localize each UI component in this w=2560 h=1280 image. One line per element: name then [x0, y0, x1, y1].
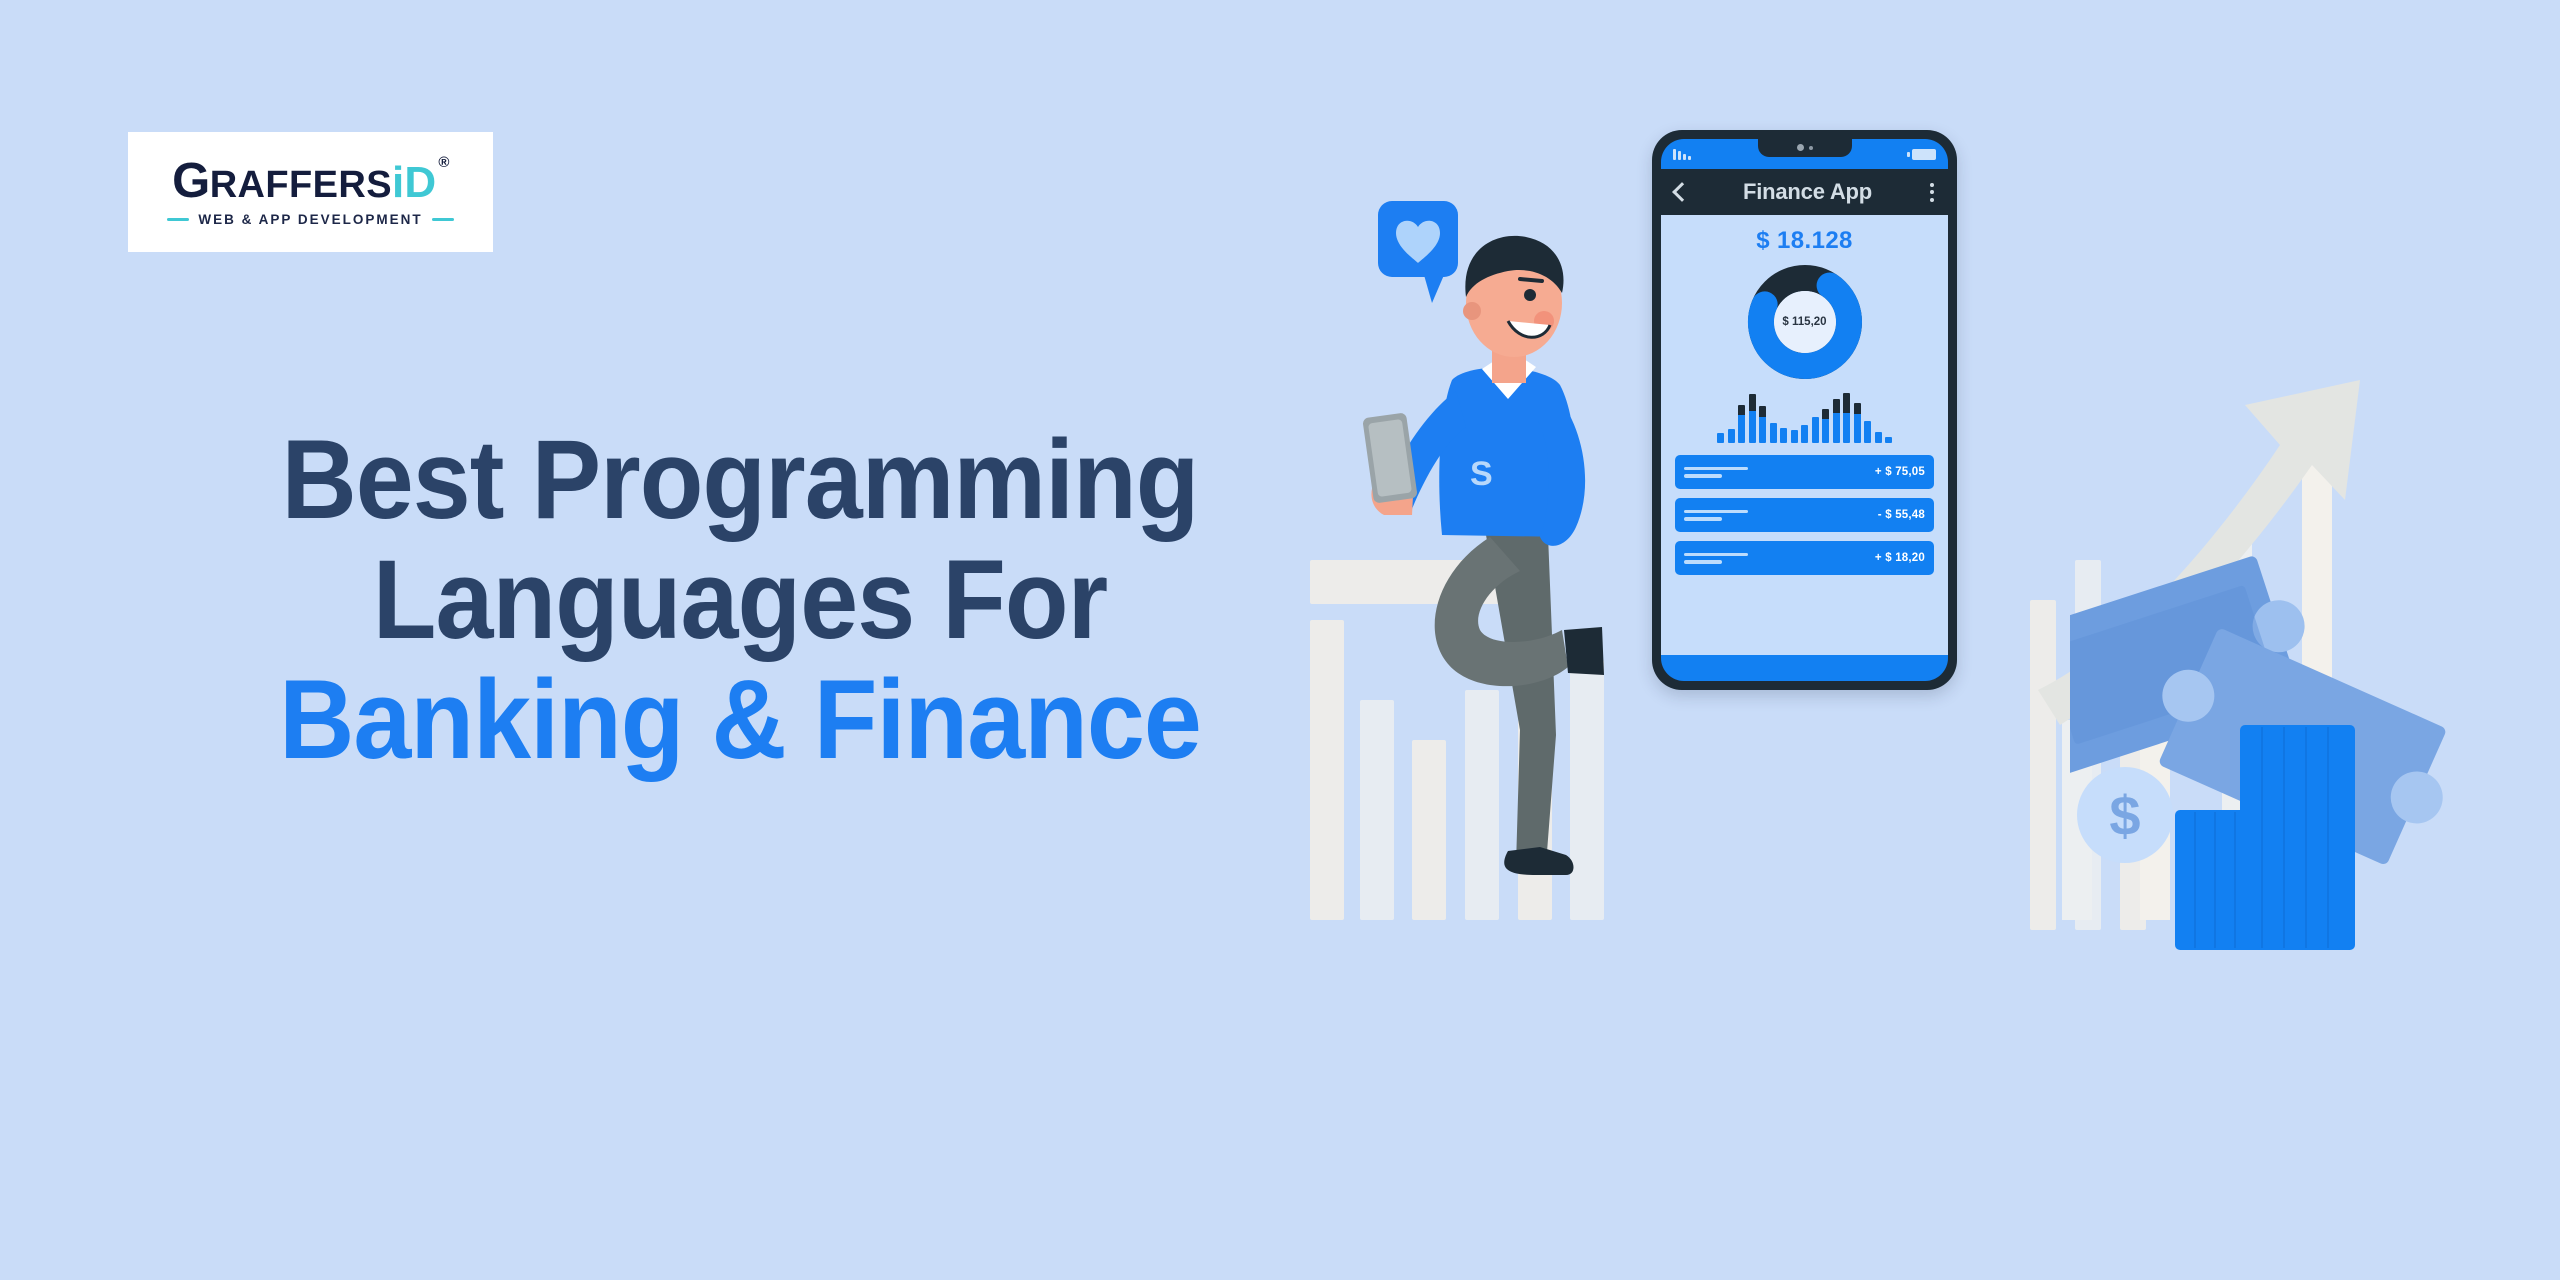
chart-bar-base: [1854, 414, 1861, 443]
chart-bar: [1770, 423, 1777, 443]
transaction-placeholder-lines: [1684, 553, 1748, 564]
chart-bar-base: [1749, 411, 1756, 443]
chart-bar-cap: [1759, 406, 1766, 417]
chart-bar: [1812, 417, 1819, 443]
app-title: Finance App: [1685, 179, 1930, 205]
transaction-row[interactable]: + $ 18,20: [1675, 541, 1934, 575]
chart-bar-base: [1780, 428, 1787, 443]
app-content: $ 18.128 $ 115,20 + $ 75,05- $ 55: [1661, 215, 1948, 655]
headline-line-1: Best Programming: [145, 420, 1335, 540]
chart-bar-base: [1738, 415, 1745, 443]
chart-bar-base: [1728, 429, 1735, 443]
svg-text:$: $: [2109, 784, 2140, 847]
donut-center-label: $ 115,20: [1782, 316, 1826, 328]
heart-speech-bubble: [1378, 201, 1458, 303]
chart-bar-base: [1812, 417, 1819, 443]
chart-bar-base: [1717, 433, 1724, 443]
page-title: Best Programming Languages For Banking &…: [100, 420, 1380, 780]
headline-line-3: Banking & Finance: [145, 660, 1335, 780]
chart-bar: [1833, 399, 1840, 443]
chart-bar-base: [1833, 413, 1840, 443]
chart-bar: [1885, 437, 1892, 443]
activity-bar-chart: [1675, 393, 1934, 443]
chart-bar: [1864, 421, 1871, 443]
money-group: $: [2070, 480, 2520, 960]
chart-bar-base: [1791, 430, 1798, 443]
phone-mockup[interactable]: Finance App $ 18.128: [1652, 130, 1957, 690]
phone-screen: Finance App $ 18.128: [1661, 139, 1948, 681]
chart-bar-cap: [1749, 394, 1756, 411]
chart-bar: [1749, 394, 1756, 443]
graffersid-logo[interactable]: G RAFFERS iD ® WEB & APP DEVELOPMENT: [128, 132, 493, 252]
camera-notch: [1758, 139, 1852, 157]
chart-bar: [1738, 405, 1745, 443]
transaction-row[interactable]: - $ 55,48: [1675, 498, 1934, 532]
finance-illustration: $: [1330, 0, 2560, 1280]
chart-bar: [1875, 432, 1882, 443]
background-bar: [1310, 620, 1344, 920]
home-indicator-bar: [1661, 655, 1948, 681]
battery-icon: [1907, 149, 1936, 160]
logo-tagline-row: WEB & APP DEVELOPMENT: [167, 212, 453, 227]
logo-word-main: RAFFERS: [210, 166, 392, 204]
transaction-list: + $ 75,05- $ 55,48+ $ 18,20: [1675, 455, 1934, 575]
dollar-coin-icon: $: [2077, 767, 2173, 863]
status-bar: [1661, 139, 1948, 169]
tagline-dash-left-icon: [167, 218, 189, 221]
chart-bar-base: [1875, 432, 1882, 443]
chart-bar-base: [1770, 423, 1777, 443]
chart-bar: [1780, 428, 1787, 443]
chart-bar-cap: [1854, 403, 1861, 414]
chart-bar-base: [1843, 413, 1850, 443]
camera-dot-icon: [1797, 144, 1804, 151]
chart-bar-cap: [1833, 399, 1840, 413]
chart-bar-cap: [1843, 393, 1850, 413]
donut-chart-wrap: $ 115,20: [1675, 263, 1934, 381]
chart-bar-base: [1885, 437, 1892, 443]
sensor-dot-icon: [1809, 146, 1813, 150]
chart-bar: [1822, 409, 1829, 443]
transaction-placeholder-lines: [1684, 510, 1748, 521]
chart-bar-base: [1801, 425, 1808, 443]
kebab-menu-icon[interactable]: [1930, 183, 1934, 202]
chart-bar-cap: [1738, 405, 1745, 415]
transaction-amount: + $ 18,20: [1875, 552, 1925, 564]
sweater-badge: S: [1470, 455, 1493, 493]
hero-banner: G RAFFERS iD ® WEB & APP DEVELOPMENT Bes…: [0, 0, 2560, 1280]
logo-mark-letter: G: [172, 157, 210, 206]
chart-bar: [1791, 430, 1798, 443]
app-bar: Finance App: [1661, 169, 1948, 215]
chart-bar: [1801, 425, 1808, 443]
chart-bar: [1717, 433, 1724, 443]
headline-line-2: Languages For: [145, 540, 1335, 660]
logo-word-accent: iD: [392, 161, 436, 205]
chart-bar-base: [1759, 417, 1766, 443]
chart-bar: [1759, 406, 1766, 443]
transaction-amount: + $ 75,05: [1875, 466, 1925, 478]
chart-bar-cap: [1822, 409, 1829, 419]
chart-bar: [1854, 403, 1861, 443]
logo-tagline: WEB & APP DEVELOPMENT: [198, 212, 422, 227]
chart-bar-base: [1864, 421, 1871, 443]
chart-bar: [1728, 429, 1735, 443]
man-holding-phone: S: [1340, 175, 1680, 875]
logo-wordmark: G RAFFERS iD ®: [172, 157, 449, 206]
tagline-dash-right-icon: [432, 218, 454, 221]
transaction-placeholder-lines: [1684, 467, 1748, 478]
registered-mark-icon: ®: [438, 155, 449, 170]
transaction-row[interactable]: + $ 75,05: [1675, 455, 1934, 489]
transaction-amount: - $ 55,48: [1878, 509, 1925, 521]
signal-bars-icon: [1673, 148, 1691, 160]
chart-bar: [1843, 393, 1850, 443]
balance-amount: $ 18.128: [1675, 227, 1934, 255]
donut-chart: $ 115,20: [1746, 263, 1864, 381]
chart-bar-base: [1822, 419, 1829, 443]
